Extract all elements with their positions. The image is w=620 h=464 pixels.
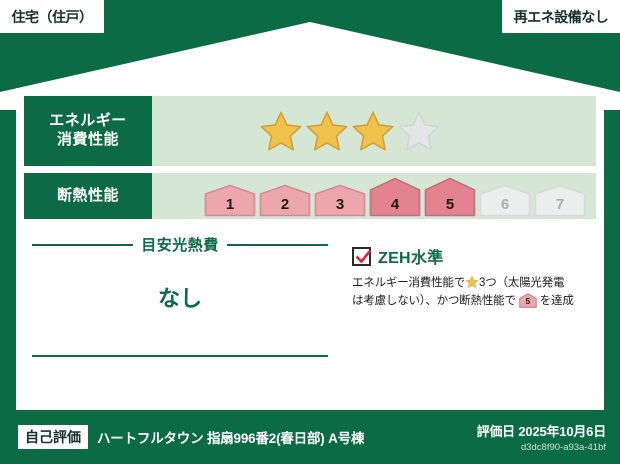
zeh-checkbox[interactable]: [352, 247, 371, 266]
insulation-performance-value: 1234567: [152, 173, 596, 219]
insulation-grade-number: 3: [314, 196, 366, 213]
insulation-grade-badge: 4: [369, 177, 421, 217]
zeh-description: エネルギー消費性能で 3つ（太陽光発電 は考慮しない）、かつ断熱性能で 5 を達…: [352, 275, 592, 311]
energy-label-line2: 消費性能: [57, 131, 119, 150]
star-empty-icon: [398, 110, 440, 152]
zeh-desc-part2: は考慮しない）、かつ断熱性能で: [352, 295, 516, 307]
star-filled-icon: [260, 110, 302, 152]
evaluation-date: 評価日 2025年10月6日: [477, 421, 606, 440]
inline-star-icon: [465, 275, 479, 289]
building-name: ハートフルタウン 指扇996番2(春日部) A号棟: [97, 427, 364, 447]
renewable-equipment-tag: 再エネ設備なし: [502, 0, 620, 33]
zeh-desc-star-count: 3つ（太陽光発電: [479, 277, 564, 289]
divider-left: [32, 244, 133, 246]
utility-cost-value: なし: [24, 255, 336, 341]
energy-label-line1: エネルギー: [49, 112, 127, 131]
insulation-grade-badge: 5: [424, 177, 476, 217]
insulation-grade-number: 7: [534, 196, 586, 213]
energy-performance-label: 住宅（住戸） 再エネ設備なし 建築物省エネ法に基づく 省エネ性能ラベル エネルギ…: [0, 0, 620, 464]
inline-grade-number: 5: [519, 295, 537, 308]
insulation-grade-badge: 7: [534, 184, 586, 217]
housing-type-tag: 住宅（住戸）: [0, 0, 104, 33]
energy-performance-row: エネルギー 消費性能: [24, 96, 596, 166]
zeh-desc-part3: を達成: [540, 295, 574, 307]
title-main: 省エネ性能ラベル: [0, 60, 620, 94]
lower-section: 目安光熱費 なし ZEH水準 エネルギー消費性能で: [16, 226, 604, 357]
title-subtitle: 建築物省エネ法に基づく: [0, 38, 620, 57]
star-filled-icon: [352, 110, 394, 152]
insulation-performance-row: 断熱性能 1234567: [24, 173, 596, 219]
zeh-desc-part1: エネルギー消費性能で: [352, 277, 465, 289]
insulation-grade-badge: 3: [314, 184, 366, 217]
insulation-grade-number: 4: [369, 196, 421, 213]
energy-performance-label-box: エネルギー 消費性能: [24, 96, 152, 166]
zeh-box: ZEH水準 エネルギー消費性能で 3つ（太陽光発電 は考慮しない）、かつ断熱性能…: [336, 230, 596, 357]
star-filled-icon: [306, 110, 348, 152]
utility-cost-header: 目安光熱費: [24, 234, 336, 255]
utility-cost-title: 目安光熱費: [141, 234, 219, 255]
insulation-grade-badge: 1: [204, 184, 256, 217]
evaluation-id: d3dc8f90-a93a-41bf: [477, 442, 606, 453]
check-icon: [355, 249, 372, 266]
energy-performance-value: [152, 96, 596, 166]
insulation-grade-number: 1: [204, 196, 256, 213]
divider-right: [227, 244, 328, 246]
insulation-grade-scale: 1234567: [204, 177, 586, 219]
insulation-grade-badge: 2: [259, 184, 311, 217]
evaluation-type-badge: 自己評価: [18, 425, 88, 449]
inline-grade-badge: 5: [519, 293, 537, 308]
insulation-label: 断熱性能: [57, 187, 119, 206]
insulation-performance-label-box: 断熱性能: [24, 173, 152, 219]
label-body-panel: エネルギー 消費性能 断熱性能 1234567: [16, 88, 604, 410]
footer-right: 評価日 2025年10月6日 d3dc8f90-a93a-41bf: [477, 421, 606, 453]
insulation-grade-number: 5: [424, 196, 476, 213]
insulation-grade-badge: 6: [479, 184, 531, 217]
utility-cost-rule: [32, 355, 328, 357]
performance-rows: エネルギー 消費性能 断熱性能 1234567: [16, 88, 604, 219]
utility-cost-box: 目安光熱費 なし: [24, 230, 336, 357]
label-footer: 自己評価 ハートフルタウン 指扇996番2(春日部) A号棟 評価日 2025年…: [0, 410, 620, 464]
zeh-header: ZEH水準: [352, 244, 592, 268]
zeh-title: ZEH水準: [378, 244, 444, 268]
insulation-grade-number: 6: [479, 196, 531, 213]
star-rating: [260, 110, 440, 152]
insulation-grade-number: 2: [259, 196, 311, 213]
title-block: 建築物省エネ法に基づく 省エネ性能ラベル: [0, 38, 620, 94]
